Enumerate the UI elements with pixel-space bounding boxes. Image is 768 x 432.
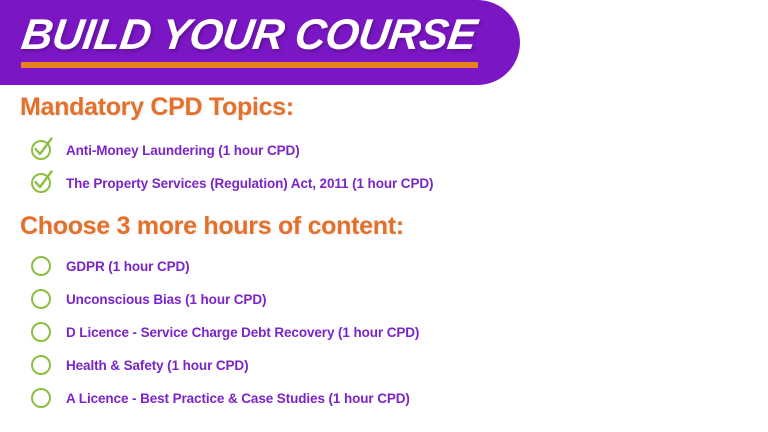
circle-outline bbox=[31, 289, 51, 309]
list-item[interactable]: D Licence - Service Charge Debt Recovery… bbox=[0, 316, 768, 349]
list-item-label: Health & Safety (1 hour CPD) bbox=[66, 358, 248, 373]
list-item[interactable]: Unconscious Bias (1 hour CPD) bbox=[0, 283, 768, 316]
header-banner: BUILD YOUR COURSE bbox=[0, 0, 520, 85]
circle-outline bbox=[31, 256, 51, 276]
list-item[interactable]: A Licence - Best Practice & Case Studies… bbox=[0, 382, 768, 415]
section-heading-choose: Choose 3 more hours of content: bbox=[20, 212, 404, 241]
list-item-label: A Licence - Best Practice & Case Studies… bbox=[66, 391, 410, 406]
list-item[interactable]: Health & Safety (1 hour CPD) bbox=[0, 349, 768, 382]
list-item-label: The Property Services (Regulation) Act, … bbox=[66, 176, 433, 191]
list-item-label: D Licence - Service Charge Debt Recovery… bbox=[66, 325, 419, 340]
empty-circle-icon[interactable] bbox=[30, 387, 54, 411]
list-item-label: Anti-Money Laundering (1 hour CPD) bbox=[66, 143, 300, 158]
checkmark-icon bbox=[29, 134, 57, 162]
circle-outline bbox=[31, 388, 51, 408]
section-heading-mandatory: Mandatory CPD Topics: bbox=[20, 93, 294, 122]
checkmark-icon bbox=[29, 167, 57, 195]
list-item[interactable]: GDPR (1 hour CPD) bbox=[0, 250, 768, 283]
page-title: BUILD YOUR COURSE bbox=[19, 11, 480, 59]
list-item-label: Unconscious Bias (1 hour CPD) bbox=[66, 292, 266, 307]
list-item[interactable]: The Property Services (Regulation) Act, … bbox=[0, 167, 768, 200]
list-item[interactable]: Anti-Money Laundering (1 hour CPD) bbox=[0, 134, 768, 167]
check-circle-icon[interactable] bbox=[30, 139, 54, 163]
empty-circle-icon[interactable] bbox=[30, 288, 54, 312]
empty-circle-icon[interactable] bbox=[30, 321, 54, 345]
empty-circle-icon[interactable] bbox=[30, 354, 54, 378]
title-underline-rule bbox=[21, 62, 478, 68]
page-title-text: BUILD YOUR COURSE bbox=[19, 11, 480, 59]
optional-topics-list: GDPR (1 hour CPD)Unconscious Bias (1 hou… bbox=[0, 250, 768, 415]
circle-outline bbox=[31, 322, 51, 342]
empty-circle-icon[interactable] bbox=[30, 255, 54, 279]
check-circle-icon[interactable] bbox=[30, 172, 54, 196]
mandatory-topics-list: Anti-Money Laundering (1 hour CPD)The Pr… bbox=[0, 134, 768, 200]
list-item-label: GDPR (1 hour CPD) bbox=[66, 259, 190, 274]
circle-outline bbox=[31, 355, 51, 375]
